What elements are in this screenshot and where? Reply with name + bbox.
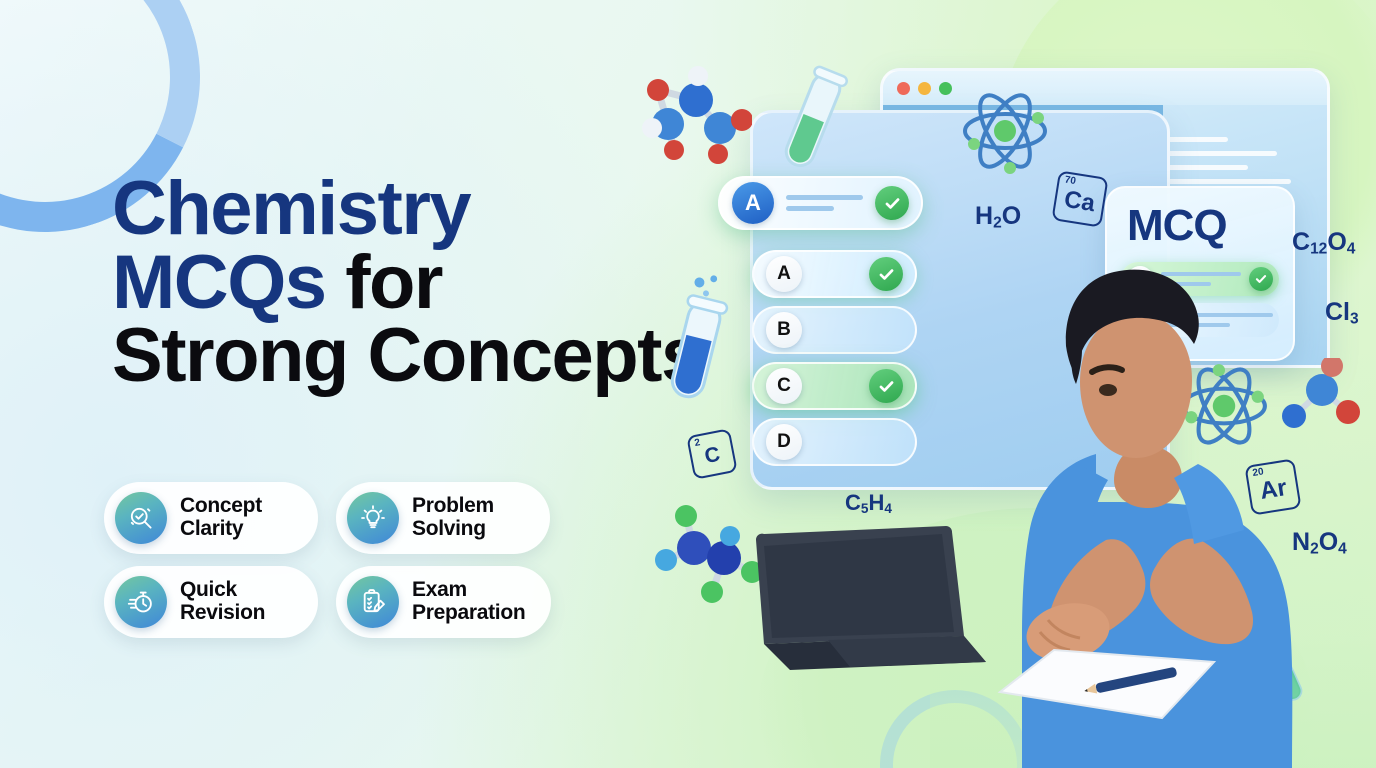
- poster-canvas: Chemistry MCQs for Strong Concepts Conce…: [0, 0, 1376, 768]
- element-symbol: Ca: [1055, 185, 1105, 220]
- feature-pill-label: QuickRevision: [180, 579, 265, 624]
- element-tile-ca: 70 Ca: [1051, 170, 1108, 227]
- feature-pill-label: ConceptClarity: [180, 495, 262, 540]
- window-minimize-dot[interactable]: [918, 82, 931, 95]
- headline-for: for: [345, 240, 442, 325]
- option-badge: A: [766, 256, 802, 292]
- feature-pill-problem-solving[interactable]: ProblemSolving: [336, 482, 550, 554]
- tablet-device[interactable]: [750, 512, 1010, 672]
- clipboard-pencil-icon: [347, 576, 399, 628]
- quiz-option-a[interactable]: A: [752, 250, 917, 298]
- lightbulb-icon: [347, 492, 399, 544]
- correct-check-icon: [875, 186, 909, 220]
- feature-pill-list: ConceptClarity ProblemSolving: [104, 482, 649, 638]
- atom-icon: [960, 88, 1050, 174]
- formula-h2o: H2O: [975, 202, 1021, 232]
- feature-pill-quick-revision[interactable]: QuickRevision: [104, 566, 318, 638]
- option-badge: D: [766, 424, 802, 460]
- feature-pill-label: ExamPreparation: [412, 579, 525, 624]
- element-tile-c: 2 C: [686, 428, 738, 480]
- correct-check-icon: [869, 257, 903, 291]
- quiz-option-d[interactable]: D: [752, 418, 917, 466]
- option-text-lines: [786, 195, 863, 211]
- browser-title-bar: [883, 71, 1327, 105]
- option-badge: C: [766, 368, 802, 404]
- magnifier-check-icon: [115, 492, 167, 544]
- window-close-dot[interactable]: [897, 82, 910, 95]
- formula-cl3: Cl3: [1325, 298, 1359, 328]
- option-badge: B: [766, 312, 802, 348]
- window-maximize-dot[interactable]: [939, 82, 952, 95]
- feature-pill-concept-clarity[interactable]: ConceptClarity: [104, 482, 318, 554]
- quiz-option-c[interactable]: C: [752, 362, 917, 410]
- feature-pill-exam-preparation[interactable]: ExamPreparation: [336, 566, 551, 638]
- quiz-option-hero[interactable]: A: [718, 176, 923, 230]
- blue-test-tube-icon: [657, 267, 741, 408]
- paper-sheet: [992, 640, 1222, 730]
- feature-pill-label: ProblemSolving: [412, 495, 494, 540]
- correct-check-icon: [869, 369, 903, 403]
- stopwatch-icon: [115, 576, 167, 628]
- quiz-option-b[interactable]: B: [752, 306, 917, 354]
- illustration-area: A A B C D: [600, 0, 1376, 768]
- option-badge: A: [732, 182, 774, 224]
- headline-mcqs: MCQs: [112, 240, 326, 325]
- molecule-model-icon: [622, 62, 752, 167]
